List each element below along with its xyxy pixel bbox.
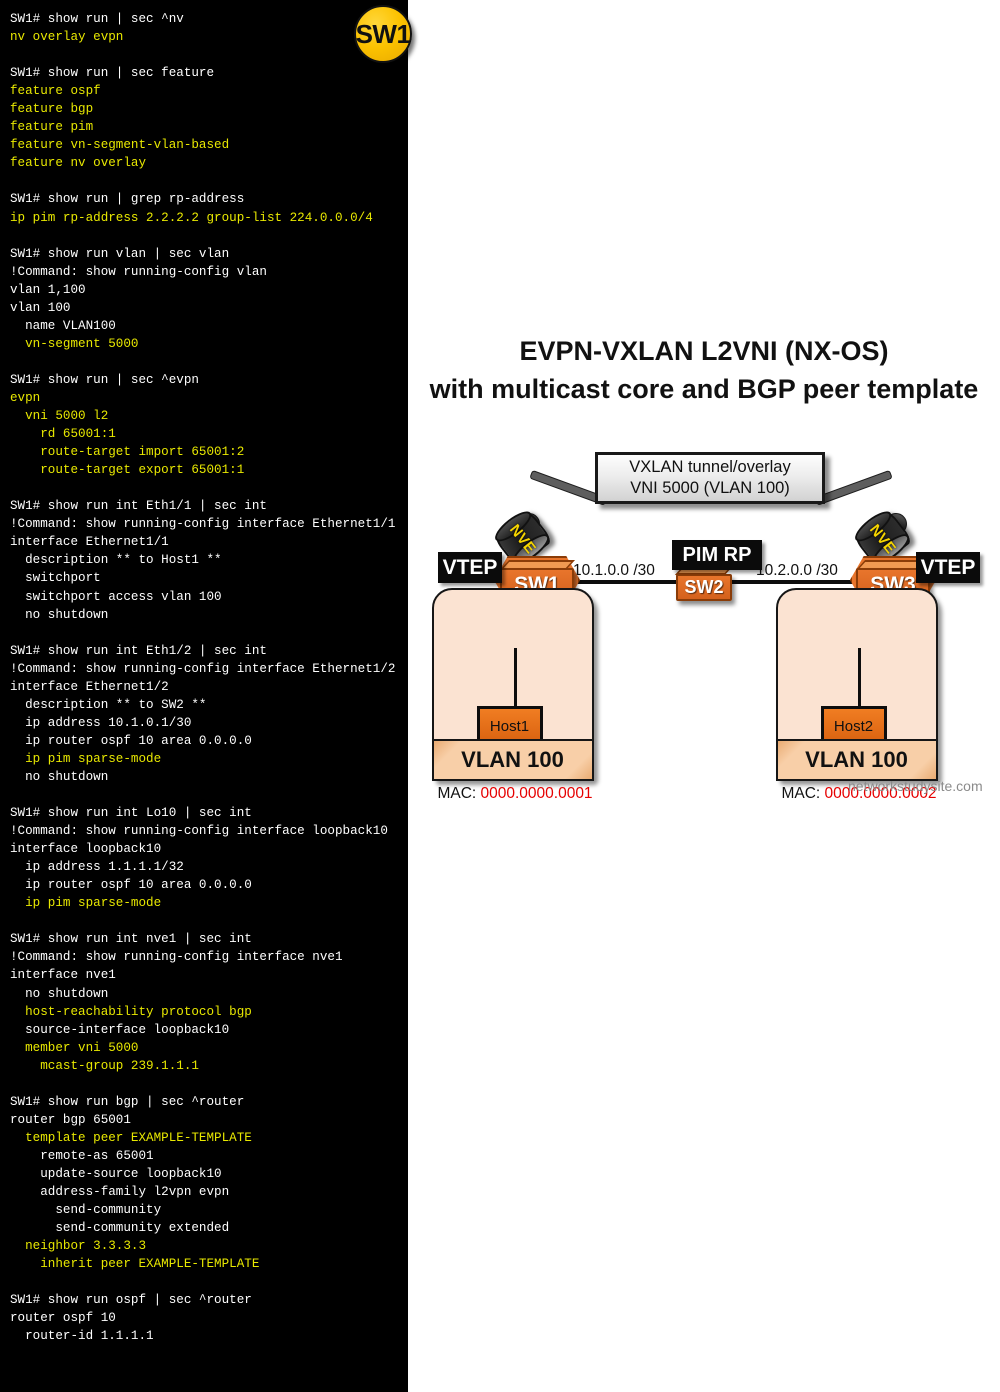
terminal-line: vlan 100 <box>10 299 408 317</box>
terminal-line: SW1# show run int Eth1/2 | sec int <box>10 642 408 660</box>
terminal-line: SW1# show run int Eth1/1 | sec int <box>10 497 408 515</box>
terminal-line: ip router ospf 10 area 0.0.0.0 <box>10 732 408 750</box>
watermark: networkstudysite.com <box>848 778 983 794</box>
terminal-line: switchport access vlan 100 <box>10 588 408 606</box>
terminal-line: nv overlay evpn <box>10 28 408 46</box>
vlan-domain-right: Host2 192.168.1.2 MAC: 0000.0000.0002 VL… <box>776 588 938 780</box>
terminal-panel: SW1# show run | sec ^nvnv overlay evpn S… <box>0 0 408 1392</box>
terminal-line: description ** to SW2 ** <box>10 696 408 714</box>
terminal-line: description ** to Host1 ** <box>10 551 408 569</box>
terminal-line: vni 5000 l2 <box>10 407 408 425</box>
terminal-blank-line <box>10 1273 408 1291</box>
terminal-line: ip router ospf 10 area 0.0.0.0 <box>10 876 408 894</box>
title-line-1: EVPN-VXLAN L2VNI (NX-OS) <box>398 332 1000 370</box>
tag-vtep-left: VTEP <box>438 552 502 583</box>
terminal-line: route-target import 65001:2 <box>10 443 408 461</box>
terminal-line: interface nve1 <box>10 966 408 984</box>
terminal-line: ip pim rp-address 2.2.2.2 group-list 224… <box>10 209 408 227</box>
vlan-band-label: VLAN 100 <box>776 739 938 781</box>
terminal-output[interactable]: SW1# show run | sec ^nvnv overlay evpn S… <box>10 10 408 1345</box>
terminal-line: SW1# show run vlan | sec vlan <box>10 245 408 263</box>
vxlan-tunnel-box: VXLAN tunnel/overlay VNI 5000 (VLAN 100) <box>595 452 825 504</box>
terminal-blank-line <box>10 624 408 642</box>
vlan-domain-left: Host1 192.168.1.1 MAC: 0000.0000.0001 VL… <box>432 588 594 780</box>
terminal-line: remote-as 65001 <box>10 1147 408 1165</box>
link-label-right: 10.2.0.0 /30 <box>756 562 838 580</box>
terminal-line: SW1# show run | sec ^evpn <box>10 371 408 389</box>
vlan-band-label: VLAN 100 <box>432 739 594 781</box>
terminal-line: ip pim sparse-mode <box>10 750 408 768</box>
terminal-line: switchport <box>10 569 408 587</box>
terminal-line: vn-segment 5000 <box>10 335 408 353</box>
terminal-line: feature ospf <box>10 82 408 100</box>
terminal-line: !Command: show running-config interface … <box>10 822 408 840</box>
terminal-blank-line <box>10 227 408 245</box>
terminal-line: ip address 1.1.1.1/32 <box>10 858 408 876</box>
terminal-line: vlan 1,100 <box>10 281 408 299</box>
terminal-line: member vni 5000 <box>10 1039 408 1057</box>
terminal-line: SW1# show run ospf | sec ^router <box>10 1291 408 1309</box>
terminal-blank-line <box>10 1075 408 1093</box>
terminal-line: mcast-group 239.1.1.1 <box>10 1057 408 1075</box>
terminal-line: feature pim <box>10 118 408 136</box>
terminal-line: route-target export 65001:1 <box>10 461 408 479</box>
terminal-line: SW1# show run int Lo10 | sec int <box>10 804 408 822</box>
terminal-line: rd 65001:1 <box>10 425 408 443</box>
mac-value: 0000.0000.0001 <box>481 785 593 802</box>
switch-label-sw2: SW2 <box>676 574 732 601</box>
tag-pim-rp: PIM RP <box>672 540 762 570</box>
mac-label: MAC: <box>781 785 820 802</box>
terminal-line: send-community extended <box>10 1219 408 1237</box>
terminal-line: neighbor 3.3.3.3 <box>10 1237 408 1255</box>
terminal-line: ip address 10.1.0.1/30 <box>10 714 408 732</box>
terminal-line: !Command: show running-config interface … <box>10 660 408 678</box>
terminal-line: ip pim sparse-mode <box>10 894 408 912</box>
tunnel-line-1: VXLAN tunnel/overlay <box>629 457 790 478</box>
terminal-line: no shutdown <box>10 606 408 624</box>
terminal-line: SW1# show run bgp | sec ^router <box>10 1093 408 1111</box>
terminal-line: SW1# show run int nve1 | sec int <box>10 930 408 948</box>
network-diagram: EVPN-VXLAN L2VNI (NX-OS) with multicast … <box>408 0 1000 1392</box>
title-line-2: with multicast core and BGP peer templat… <box>398 370 1000 408</box>
terminal-line: !Command: show running-config interface … <box>10 515 408 533</box>
terminal-line: interface loopback10 <box>10 840 408 858</box>
tunnel-arm-right <box>814 470 892 506</box>
terminal-line: feature nv overlay <box>10 154 408 172</box>
terminal-blank-line <box>10 172 408 190</box>
diagram-title: EVPN-VXLAN L2VNI (NX-OS) with multicast … <box>398 332 1000 408</box>
host-lead-line <box>858 648 861 710</box>
host-mac: MAC: 0000.0000.0001 <box>434 785 596 803</box>
terminal-line: SW1# show run | sec feature <box>10 64 408 82</box>
terminal-line: name VLAN100 <box>10 317 408 335</box>
tag-vtep-right: VTEP <box>916 552 980 583</box>
terminal-line: router bgp 65001 <box>10 1111 408 1129</box>
mac-label: MAC: <box>437 785 476 802</box>
terminal-line: interface Ethernet1/1 <box>10 533 408 551</box>
terminal-blank-line <box>10 46 408 64</box>
badge-label: SW1 <box>354 5 412 63</box>
tunnel-line-2: VNI 5000 (VLAN 100) <box>630 478 790 499</box>
terminal-line: evpn <box>10 389 408 407</box>
terminal-line: send-community <box>10 1201 408 1219</box>
terminal-blank-line <box>10 353 408 371</box>
terminal-line: SW1# show run | grep rp-address <box>10 190 408 208</box>
terminal-line: source-interface loopback10 <box>10 1021 408 1039</box>
terminal-blank-line <box>10 479 408 497</box>
terminal-line: host-reachability protocol bgp <box>10 1003 408 1021</box>
host-lead-line <box>514 648 517 710</box>
terminal-line: SW1# show run | sec ^nv <box>10 10 408 28</box>
terminal-line: address-family l2vpn evpn <box>10 1183 408 1201</box>
terminal-line: !Command: show running-config vlan <box>10 263 408 281</box>
terminal-line: feature bgp <box>10 100 408 118</box>
terminal-line: no shutdown <box>10 985 408 1003</box>
switch-node-sw2[interactable]: SW2 <box>676 566 732 604</box>
terminal-line: no shutdown <box>10 768 408 786</box>
terminal-line: template peer EXAMPLE-TEMPLATE <box>10 1129 408 1147</box>
terminal-line: inherit peer EXAMPLE-TEMPLATE <box>10 1255 408 1273</box>
terminal-line: router ospf 10 <box>10 1309 408 1327</box>
terminal-line: interface Ethernet1/2 <box>10 678 408 696</box>
link-label-left: 10.1.0.0 /30 <box>573 562 655 580</box>
terminal-line: feature vn-segment-vlan-based <box>10 136 408 154</box>
terminal-line: !Command: show running-config interface … <box>10 948 408 966</box>
terminal-line: router-id 1.1.1.1 <box>10 1327 408 1345</box>
terminal-blank-line <box>10 912 408 930</box>
terminal-blank-line <box>10 786 408 804</box>
terminal-line: update-source loopback10 <box>10 1165 408 1183</box>
